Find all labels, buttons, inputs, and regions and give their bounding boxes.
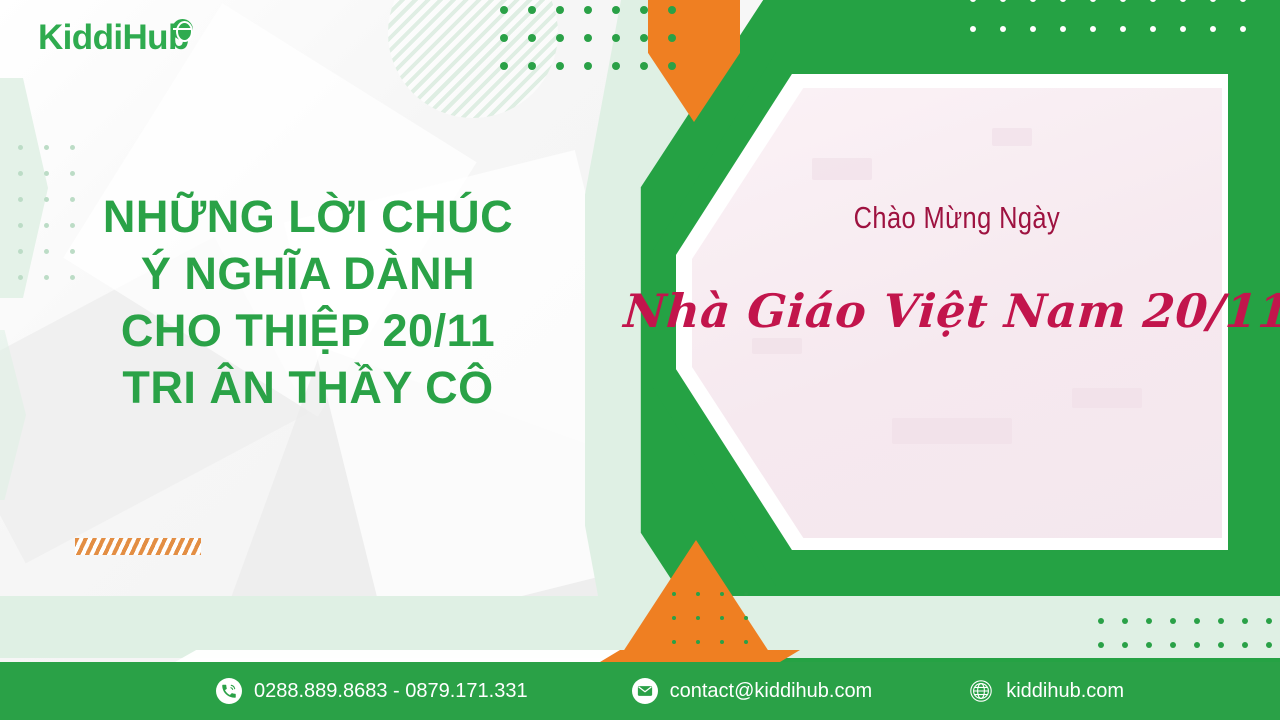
footer-email-text: contact@kiddihub.com	[670, 680, 873, 703]
card-text-block: Chào Mừng Ngày Nhà Giáo Việt Nam 20/11	[692, 88, 1222, 538]
footer-website[interactable]: kiddihub.com	[968, 678, 1124, 704]
title-line-3: CHO THIỆP 20/11	[58, 302, 558, 359]
envelope-icon	[632, 678, 658, 704]
title-line-4: TRI ÂN THẦY CÔ	[58, 359, 558, 416]
title-line-1: NHỮNG LỜI CHÚC	[58, 188, 558, 245]
footer-website-text: kiddihub.com	[1006, 680, 1124, 703]
footer-email[interactable]: contact@kiddihub.com	[632, 678, 873, 704]
logo[interactable]: KiddiHub	[38, 18, 189, 58]
footer-phone[interactable]: 0288.889.8683 - 0879.171.331	[216, 678, 528, 704]
title-line-2: Ý NGHĨA DÀNH	[58, 245, 558, 302]
greeting-card: Chào Mừng Ngày Nhà Giáo Việt Nam 20/11	[650, 52, 1250, 586]
orange-hatch-decoration	[75, 538, 201, 555]
footer-bar: 0288.889.8683 - 0879.171.331 contact@kid…	[0, 662, 1280, 720]
logo-text: KiddiHub	[38, 18, 189, 57]
globe-icon	[968, 678, 994, 704]
card-occasion: Nhà Giáo Việt Nam 20/11	[622, 284, 1280, 338]
card-greeting: Chào Mừng Ngày	[854, 200, 1060, 236]
poster-canvas: Chào Mừng Ngày Nhà Giáo Việt Nam 20/11 K…	[0, 0, 1280, 720]
phone-icon	[216, 678, 242, 704]
page-title: NHỮNG LỜI CHÚC Ý NGHĨA DÀNH CHO THIỆP 20…	[58, 188, 558, 417]
globe-icon	[172, 19, 193, 40]
footer-phone-text: 0288.889.8683 - 0879.171.331	[254, 680, 528, 703]
